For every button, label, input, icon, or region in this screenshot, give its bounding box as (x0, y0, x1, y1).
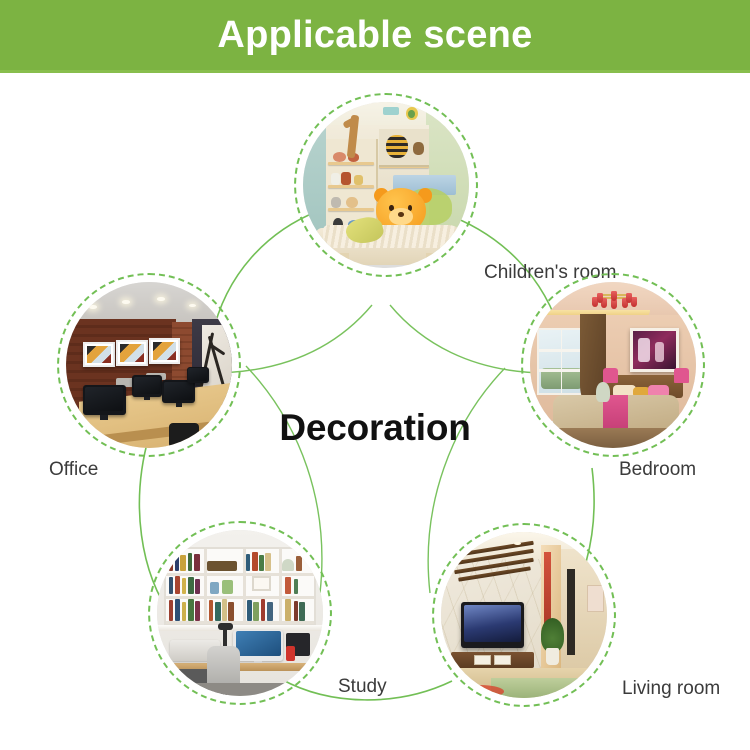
node-office[interactable]: Office (57, 273, 241, 457)
photo-bedroom (530, 282, 696, 448)
photo-childrens-room (303, 102, 469, 268)
node-label-office: Office (49, 459, 98, 481)
photo-study (157, 530, 323, 696)
photo-living-room (441, 532, 607, 698)
node-label-living-room: Living room (622, 678, 720, 700)
node-label-study: Study (338, 676, 387, 698)
applicable-scene-infographic: Applicable scene (0, 0, 750, 750)
node-label-bedroom: Bedroom (619, 459, 696, 481)
node-childrens-room[interactable]: Children's room (294, 93, 478, 277)
node-study[interactable]: Study (148, 521, 332, 705)
photo-office (66, 282, 232, 448)
node-living-room[interactable]: Living room (432, 523, 616, 707)
scene-diagram: Decoration (0, 73, 750, 750)
node-bedroom[interactable]: Bedroom (521, 273, 705, 457)
page-title: Applicable scene (0, 0, 750, 70)
